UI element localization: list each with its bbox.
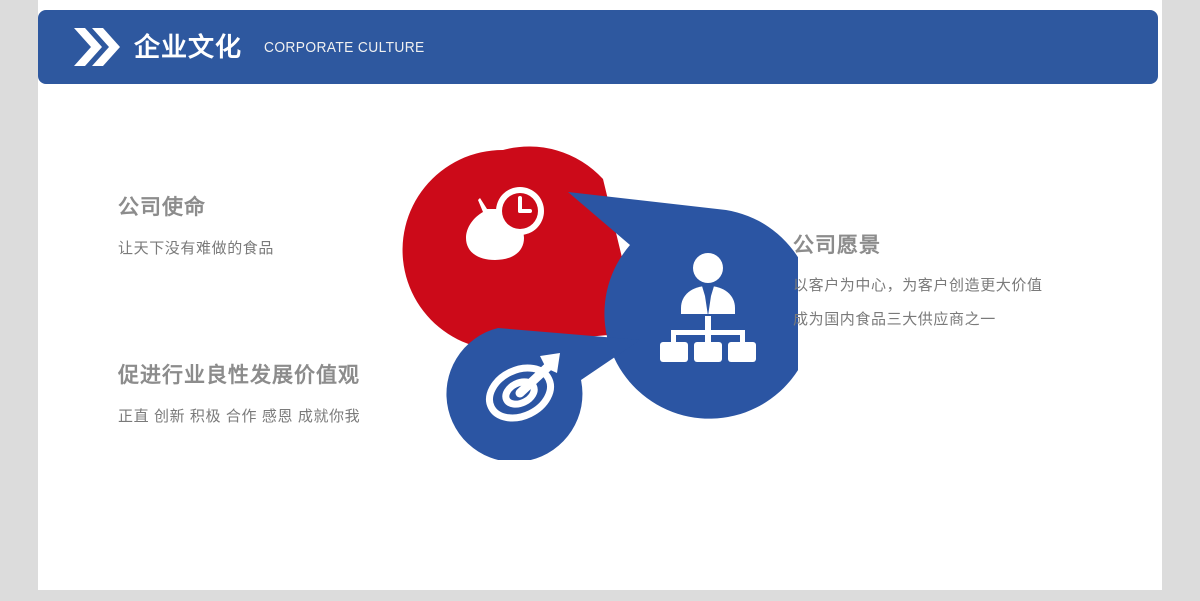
block-mission-line-1: 让天下没有难做的食品 bbox=[118, 240, 274, 258]
block-vision-line-1: 以客户为中心，为客户创造更大价值 bbox=[793, 277, 1043, 295]
double-chevron-right-icon bbox=[74, 25, 122, 69]
block-vision-line-2: 成为国内食品三大供应商之一 bbox=[793, 311, 1043, 329]
petal-values-shape bbox=[446, 328, 640, 460]
petal-values[interactable] bbox=[446, 328, 640, 460]
block-values-heading: 促进行业良性发展价值观 bbox=[118, 363, 360, 388]
block-vision: 公司愿景 以客户为中心，为客户创造更大价值 成为国内食品三大供应商之一 bbox=[793, 233, 1043, 329]
petal-mission[interactable] bbox=[403, 147, 640, 350]
block-mission: 公司使命 让天下没有难做的食品 bbox=[118, 195, 274, 258]
culture-diagram bbox=[368, 140, 798, 460]
block-values-line-1: 正直 创新 积极 合作 感恩 成就你我 bbox=[118, 408, 360, 426]
block-vision-heading: 公司愿景 bbox=[793, 233, 1043, 258]
page-title: 企业文化 bbox=[134, 34, 242, 60]
block-mission-heading: 公司使命 bbox=[118, 195, 274, 220]
header-bar: 企业文化 CORPORATE CULTURE bbox=[38, 10, 1158, 84]
slide-canvas: 企业文化 CORPORATE CULTURE bbox=[38, 0, 1162, 590]
block-values: 促进行业良性发展价值观 正直 创新 积极 合作 感恩 成就你我 bbox=[118, 363, 360, 426]
page-subtitle: CORPORATE CULTURE bbox=[264, 40, 425, 55]
